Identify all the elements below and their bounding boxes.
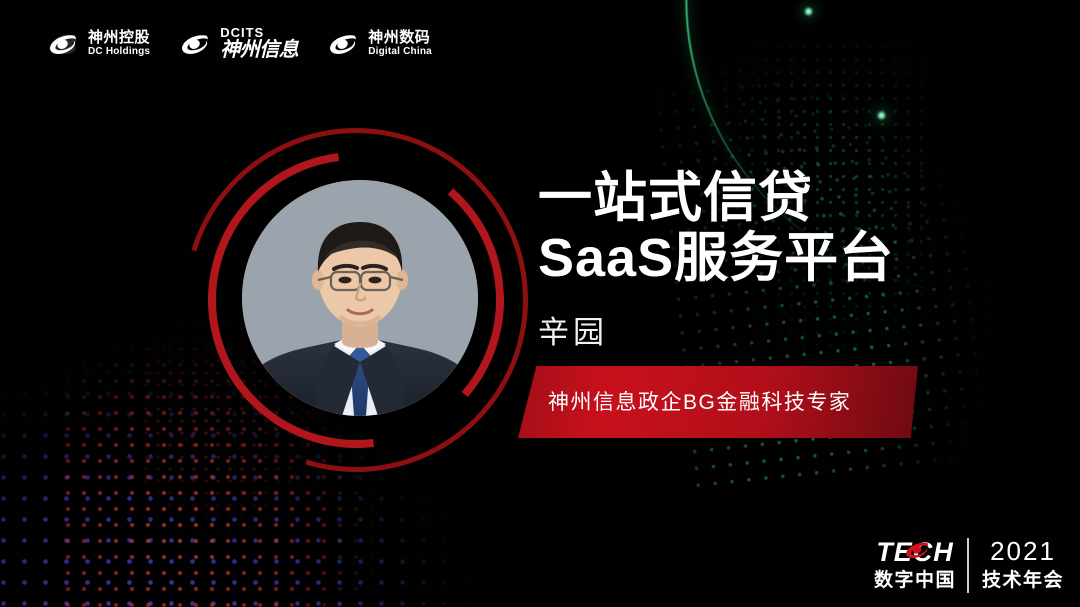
portrait-illustration — [242, 180, 478, 416]
title-block: 一站式信贷 SaaS服务平台 辛园 — [538, 168, 894, 352]
event-year: 2021 — [990, 538, 1056, 564]
event-logo: TECH 数字中国 2021 技术年会 — [874, 538, 1064, 593]
event-subtitle: 技术年会 — [982, 569, 1064, 593]
logo-label-cn: 神州数码 — [368, 30, 432, 46]
dc-swirl-icon — [178, 31, 212, 57]
logo-dc-holdings: 神州控股 DC Holdings — [46, 30, 150, 57]
event-logo-right: 2021 技术年会 — [967, 538, 1064, 593]
logo-label-en: DCITS — [220, 26, 298, 40]
logo-label-cn: 神州信息 — [220, 40, 298, 62]
logo-label-en: Digital China — [368, 47, 432, 58]
dc-swirl-icon — [46, 31, 80, 57]
streak-glow-dot-icon — [878, 112, 885, 119]
event-logo-left: TECH 数字中国 — [874, 539, 967, 593]
event-name-cn: 数字中国 — [874, 569, 956, 593]
logo-digital-china: 神州数码 Digital China — [326, 30, 432, 57]
logo-dcits: DCITS 神州信息 — [178, 26, 298, 62]
page-title-line-1: 一站式信贷 — [538, 168, 894, 228]
speaker-role-text: 神州信息政企BG金融科技专家 — [548, 386, 851, 416]
presentation-slide: 神州控股 DC Holdings DCITS 神州信息 — [0, 0, 1080, 607]
corporate-logo-bar: 神州控股 DC Holdings DCITS 神州信息 — [46, 26, 432, 62]
speaker-name: 辛园 — [538, 307, 894, 352]
avatar — [242, 180, 478, 416]
dc-swirl-icon — [326, 31, 360, 57]
logo-text: 神州数码 Digital China — [368, 30, 432, 57]
logo-label-en: DC Holdings — [88, 47, 150, 58]
streak-glow-dot-icon — [805, 8, 812, 15]
page-title-line-2: SaaS服务平台 — [538, 228, 894, 288]
event-tech-wordmark: TECH — [876, 539, 954, 566]
logo-text: 神州控股 DC Holdings — [88, 30, 150, 57]
speaker-portrait-frame — [196, 140, 516, 460]
logo-text: DCITS 神州信息 — [220, 26, 298, 62]
logo-label-cn: 神州控股 — [88, 30, 150, 46]
red-swirl-icon — [902, 537, 932, 563]
